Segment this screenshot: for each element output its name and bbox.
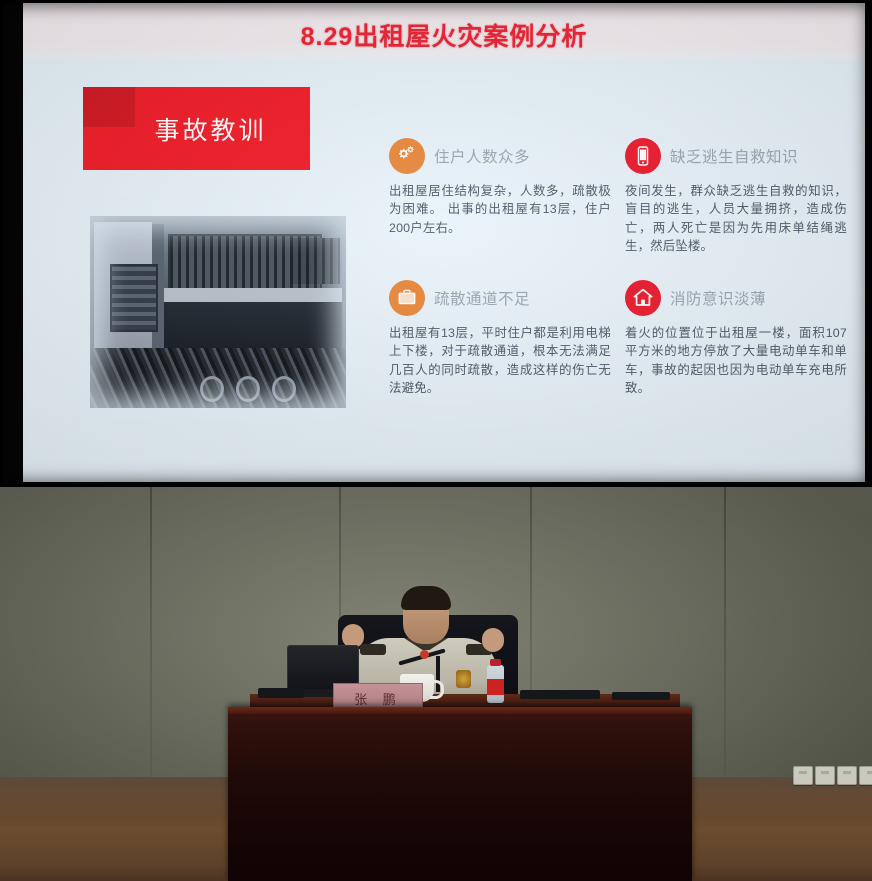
- house-icon: [625, 280, 661, 316]
- lesson-body: 出租屋有13层，平时住户都是利用电梯上下楼，对于疏散通道，根本无法满足几百人的同…: [389, 324, 611, 398]
- slide-title: 8.29出租屋火灾案例分析: [23, 17, 865, 53]
- podium: [228, 707, 692, 881]
- water-bottle: [487, 665, 504, 703]
- wall-outlets[interactable]: [793, 766, 872, 785]
- briefcase-icon: [389, 280, 425, 316]
- conference-room-photo: 张 鹏 8.29出租屋火灾案例分析 事故教训: [0, 0, 872, 881]
- lesson-item-4: 消防意识淡薄 着火的位置位于出租屋一楼，面积107平方米的地方停放了大量电动单车…: [625, 279, 847, 398]
- lesson-body: 出租屋居住结构复杂，人数多，疏散极为困难。 出事的出租屋有13层，住户200户左…: [389, 182, 611, 237]
- right-hand: [482, 628, 504, 652]
- section-banner-label: 事故教训: [83, 87, 310, 170]
- lesson-item-3: 疏散通道不足 出租屋有13层，平时住户都是利用电梯上下楼，对于疏散通道，根本无法…: [389, 279, 611, 398]
- lesson-body: 着火的位置位于出租屋一楼，面积107平方米的地方停放了大量电动单车和单车，事故的…: [625, 324, 847, 398]
- lesson-title: 缺乏逃生自救知识: [670, 145, 798, 167]
- presenter-name: 张 鹏: [354, 689, 402, 708]
- cup-handle: [430, 680, 444, 699]
- lesson-header: 消防意识淡薄: [625, 279, 847, 317]
- wall-switch-icon[interactable]: [793, 766, 813, 785]
- wall-switch-icon[interactable]: [815, 766, 835, 785]
- bottle-cap: [490, 659, 501, 666]
- wall-socket-icon[interactable]: [837, 766, 857, 785]
- podium-top-edge: [228, 707, 692, 714]
- presentation-slide: 8.29出租屋火灾案例分析 事故教训: [23, 3, 865, 482]
- lesson-title: 疏散通道不足: [434, 287, 530, 309]
- desk-item: [520, 690, 600, 699]
- lesson-body: 夜间发生，群众缺乏逃生自救的知识，盲目的逃生，人员大量拥挤，造成伤亡，两人死亡是…: [625, 182, 847, 256]
- lesson-title: 住户人数众多: [434, 145, 530, 167]
- projection-screen: 8.29出租屋火灾案例分析 事故教训: [0, 0, 872, 487]
- lesson-item-2: 缺乏逃生自救知识 夜间发生，群众缺乏逃生自救的知识，盲目的逃生，人员大量拥挤，造…: [625, 137, 847, 256]
- lesson-header: 住户人数众多: [389, 137, 611, 175]
- lesson-header: 缺乏逃生自救知识: [625, 137, 847, 175]
- lesson-header: 疏散通道不足: [389, 279, 611, 317]
- smartphone-icon: [625, 138, 661, 174]
- shoulder-board: [360, 644, 386, 655]
- desk-item: [258, 688, 304, 698]
- section-banner: 事故教训: [83, 87, 310, 170]
- bottle-label: [487, 679, 504, 695]
- fire-damage-photo: [90, 216, 346, 408]
- desk-item: [612, 692, 670, 700]
- lesson-item-1: 住户人数众多 出租屋居住结构复杂，人数多，疏散极为困难。 出事的出租屋有13层，…: [389, 137, 611, 237]
- uniform-badge: [456, 670, 471, 688]
- photo-vignette: [90, 216, 346, 408]
- gears-icon: [389, 138, 425, 174]
- lessons-grid: 住户人数众多 出租屋居住结构复杂，人数多，疏散极为困难。 出事的出租屋有13层，…: [389, 137, 849, 417]
- wall-socket-icon[interactable]: [859, 766, 872, 785]
- lesson-title: 消防意识淡薄: [670, 287, 766, 309]
- microphone-head-icon: [420, 650, 429, 659]
- presenter-hair: [401, 586, 451, 610]
